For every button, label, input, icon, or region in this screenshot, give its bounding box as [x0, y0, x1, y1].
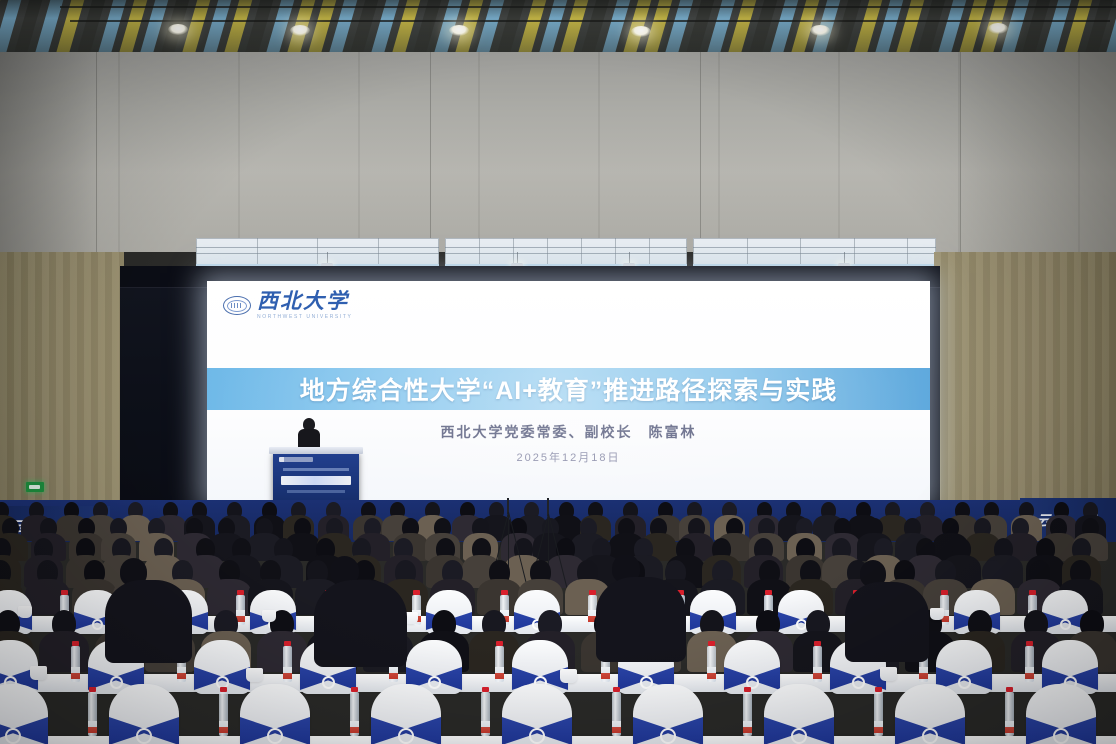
- slide-title: 地方综合性大学“AI+教育”推进路径探索与实践: [300, 371, 838, 407]
- chair-sash-ring: [529, 728, 545, 744]
- bottle-label: [1005, 721, 1014, 733]
- bottle-cap: [744, 687, 751, 692]
- chair-sash-ring: [852, 676, 865, 689]
- bottle-cap: [482, 687, 489, 692]
- water-bottle: [71, 646, 80, 682]
- tea-cup: [18, 606, 32, 618]
- bottle-cap: [814, 641, 821, 646]
- bottle-cap: [496, 641, 503, 646]
- foreground-person-body: [596, 577, 686, 662]
- university-logo-name: 西北大学: [257, 291, 352, 312]
- water-bottle: [219, 692, 228, 736]
- university-logo: 西北大学 NORTHWEST UNIVERSITY: [223, 291, 352, 320]
- chair-sash-ring: [5, 728, 21, 744]
- bottle-label: [612, 721, 621, 733]
- audience-area: [0, 498, 1116, 744]
- tea-cup: [560, 669, 577, 683]
- chair-sash-ring: [398, 728, 414, 744]
- water-bottle: [707, 646, 716, 682]
- ceiling-downlight: [168, 24, 188, 35]
- bottle-cap: [72, 641, 79, 646]
- university-seal-icon: [223, 296, 251, 315]
- bottle-label: [283, 667, 292, 679]
- chair-sash-ring: [1053, 728, 1069, 744]
- bottle-cap: [220, 687, 227, 692]
- tea-cup: [880, 667, 897, 681]
- bottle-cap: [589, 590, 596, 595]
- left-side-wall: [0, 252, 124, 520]
- bottle-cap: [1006, 687, 1013, 692]
- chair-sash-ring: [92, 619, 103, 630]
- exit-sign-icon: [26, 482, 44, 492]
- chair: [240, 684, 310, 744]
- chair-sash-ring: [136, 728, 152, 744]
- chair-sash-ring: [428, 676, 441, 689]
- water-bottle: [813, 646, 822, 682]
- chair-sash-ring: [110, 676, 123, 689]
- chair: [502, 684, 572, 744]
- bottle-cap: [351, 687, 358, 692]
- tea-cup: [246, 668, 263, 682]
- ceiling-downlight: [290, 25, 310, 36]
- chair-sash-ring: [322, 676, 335, 689]
- podium-text-line: [283, 468, 349, 471]
- bottle-label: [1025, 667, 1034, 679]
- chair-sash-ring: [922, 728, 938, 744]
- bottle-label: [88, 721, 97, 733]
- ceiling: [0, 0, 1116, 52]
- ceiling-downlight: [810, 25, 830, 36]
- bottle-label: [707, 667, 716, 679]
- chair: [371, 684, 441, 744]
- right-side-wall: [934, 252, 1116, 520]
- water-bottle: [612, 692, 621, 736]
- chair: [109, 684, 179, 744]
- bottle-label: [350, 721, 359, 733]
- bottle-cap: [89, 687, 96, 692]
- bottle-label: [813, 667, 822, 679]
- podium-logo: [279, 457, 313, 462]
- water-bottle: [350, 692, 359, 736]
- ceiling-rail: [60, 6, 1116, 8]
- chair-sash-ring: [1060, 619, 1071, 630]
- bottle-label: [481, 721, 490, 733]
- water-bottle: [495, 646, 504, 682]
- chair-sash-ring: [267, 728, 283, 744]
- bottle-label: [495, 667, 504, 679]
- chair-sash-ring: [791, 728, 807, 744]
- bottle-label: [71, 667, 80, 679]
- bottle-cap: [613, 687, 620, 692]
- chair: [1026, 684, 1096, 744]
- bottle-cap: [1029, 590, 1036, 595]
- bottle-cap: [501, 590, 508, 595]
- ceiling-rail: [70, 20, 1110, 22]
- podium-top: [269, 447, 363, 454]
- water-bottle: [481, 692, 490, 736]
- water-bottle: [1005, 692, 1014, 736]
- bottle-cap: [941, 590, 948, 595]
- bottle-label: [601, 667, 610, 679]
- bottle-label: [219, 721, 228, 733]
- ceiling-downlight: [988, 23, 1008, 34]
- water-bottle: [743, 692, 752, 736]
- bottle-cap: [765, 590, 772, 595]
- bottle-cap: [61, 590, 68, 595]
- slide-title-band: 地方综合性大学“AI+教育”推进路径探索与实践: [207, 368, 930, 410]
- bottle-label: [177, 667, 186, 679]
- bottle-cap: [284, 641, 291, 646]
- chair-sash-ring: [958, 676, 971, 689]
- podium-text-line: [287, 490, 345, 493]
- chair: [194, 640, 250, 694]
- chair: [633, 684, 703, 744]
- wall-seam: [430, 52, 431, 252]
- tea-cup: [30, 666, 47, 680]
- bottle-cap: [875, 687, 882, 692]
- bottle-cap: [708, 641, 715, 646]
- chair: [724, 640, 780, 694]
- ceiling-downlight: [631, 26, 651, 37]
- water-bottle: [1025, 646, 1034, 682]
- wall-seam: [960, 52, 961, 252]
- wall-seam: [700, 52, 701, 252]
- foreground-person-body: [314, 580, 407, 668]
- bottle-cap: [413, 590, 420, 595]
- back-wall: [0, 52, 1116, 252]
- chair: [764, 684, 834, 744]
- water-bottle: [283, 646, 292, 682]
- podium-headline: [281, 476, 351, 485]
- chair-sash-ring: [660, 728, 676, 744]
- bottle-label: [389, 667, 398, 679]
- audience-shoulders: [39, 631, 89, 672]
- bottle-label: [743, 721, 752, 733]
- chair: [0, 684, 48, 744]
- foreground-person-body: [105, 580, 192, 663]
- foreground-person-body: [845, 582, 929, 662]
- wall-seam: [96, 52, 97, 252]
- bottle-label: [874, 721, 883, 733]
- bottle-cap: [237, 590, 244, 595]
- ceiling-downlight: [449, 25, 469, 36]
- water-bottle: [88, 692, 97, 736]
- tea-cup: [262, 610, 276, 622]
- chair: [895, 684, 965, 744]
- university-logo-name-en: NORTHWEST UNIVERSITY: [257, 314, 352, 320]
- bottle-label: [919, 667, 928, 679]
- conference-hall-photo: 中智恩智普智圆远大 西北大学 NORTHWEST UNIVERSITY: [0, 0, 1116, 744]
- tea-cup: [930, 608, 944, 620]
- bottle-cap: [1026, 641, 1033, 646]
- water-bottle: [874, 692, 883, 736]
